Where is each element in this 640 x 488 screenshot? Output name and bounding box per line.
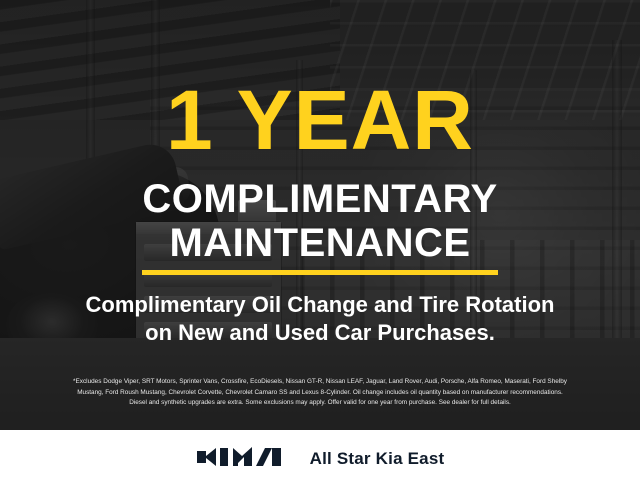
yellow-divider-bar bbox=[142, 270, 498, 275]
headline-complimentary: COMPLIMENTARY bbox=[0, 178, 640, 220]
disclaimer-line-3: Diesel and synthetic upgrades are extra.… bbox=[12, 398, 628, 409]
headline-year: 1 YEAR bbox=[0, 78, 640, 162]
hero-text-content: 1 YEAR COMPLIMENTARY MAINTENANCE Complim… bbox=[0, 0, 640, 430]
disclaimer-text: *Excludes Dodge Viper, SRT Motors, Sprin… bbox=[12, 377, 628, 409]
disclaimer-line-1: *Excludes Dodge Viper, SRT Motors, Sprin… bbox=[12, 377, 628, 388]
promo-advertisement: 1 YEAR COMPLIMENTARY MAINTENANCE Complim… bbox=[0, 0, 640, 488]
kia-logo bbox=[196, 444, 288, 475]
dealer-name: All Star Kia East bbox=[310, 449, 445, 469]
hero-banner: 1 YEAR COMPLIMENTARY MAINTENANCE Complim… bbox=[0, 0, 640, 430]
headline-maintenance: MAINTENANCE bbox=[0, 222, 640, 264]
offer-description-line-1: Complimentary Oil Change and Tire Rotati… bbox=[0, 292, 640, 318]
disclaimer-line-2: Mustang, Ford Roush Mustang, Chevrolet C… bbox=[12, 388, 628, 399]
dealer-footer: All Star Kia East bbox=[0, 430, 640, 488]
offer-description-line-2: on New and Used Car Purchases. bbox=[0, 320, 640, 346]
